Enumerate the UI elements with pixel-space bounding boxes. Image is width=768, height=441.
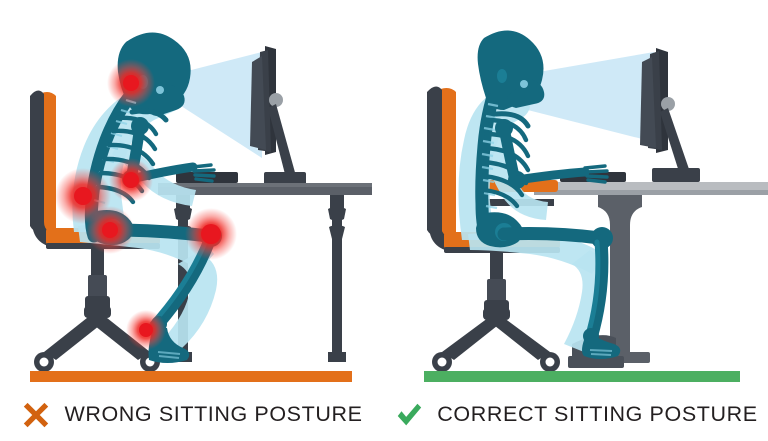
cross-x-icon bbox=[21, 400, 51, 430]
caption-correct-label: CORRECT SITTING POSTURE bbox=[437, 402, 757, 427]
scene-wrong bbox=[0, 0, 384, 390]
caption-wrong-label: WRONG SITTING POSTURE bbox=[64, 402, 362, 427]
floor-bar-orange bbox=[30, 371, 352, 382]
femur bbox=[504, 234, 600, 239]
desk-leg-rear bbox=[328, 195, 346, 362]
check-mark-icon bbox=[394, 400, 424, 430]
panel-correct-posture: CORRECT SITTING POSTURE bbox=[384, 0, 768, 441]
scene-correct bbox=[384, 0, 768, 390]
infographic-canvas: WRONG SITTING POSTURE bbox=[0, 0, 768, 441]
monitor-eye-level bbox=[640, 48, 700, 182]
pain-knee bbox=[185, 208, 237, 260]
panel-wrong-posture: WRONG SITTING POSTURE bbox=[0, 0, 384, 441]
pain-ankle bbox=[126, 310, 166, 350]
pain-elbow bbox=[109, 158, 153, 202]
floor-bar-green bbox=[424, 371, 740, 382]
illustration-correct-posture bbox=[384, 0, 768, 390]
caption-correct: CORRECT SITTING POSTURE bbox=[384, 388, 768, 441]
pain-hip bbox=[86, 206, 134, 254]
caption-wrong: WRONG SITTING POSTURE bbox=[0, 388, 384, 441]
illustration-wrong-posture bbox=[0, 0, 384, 390]
pain-neck bbox=[107, 59, 155, 107]
monitor-low bbox=[250, 46, 306, 186]
